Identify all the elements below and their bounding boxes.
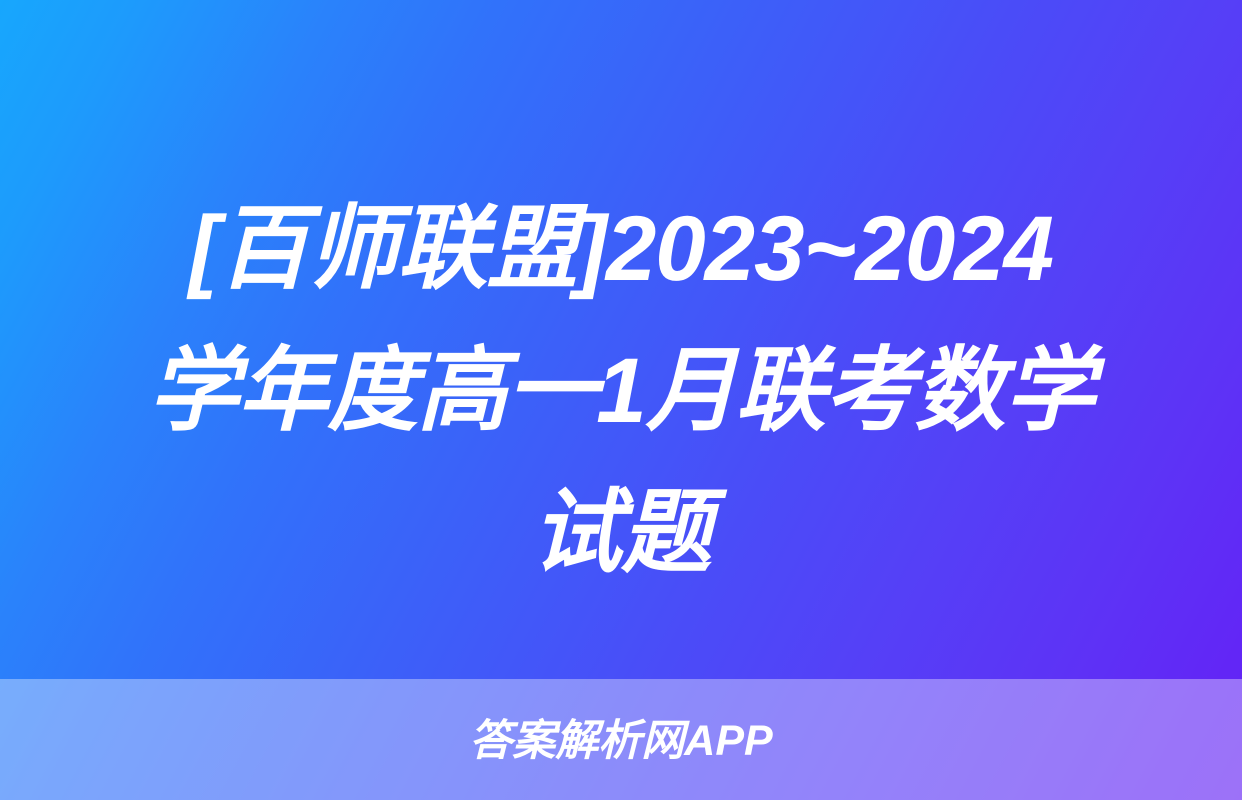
poster-title: [百师联盟]2023~2024 学年度高一1月联考数学 试题 [0,178,1242,604]
watermark-band: 答案解析网APP [0,679,1242,800]
watermark-label: 答案解析网APP [469,717,772,765]
title-line-3: 试题 [53,462,1190,604]
poster-canvas: [百师联盟]2023~2024 学年度高一1月联考数学 试题 答案解析网APP [0,0,1242,800]
title-line-1: [百师联盟]2023~2024 [53,178,1190,320]
title-line-2: 学年度高一1月联考数学 [53,320,1190,462]
